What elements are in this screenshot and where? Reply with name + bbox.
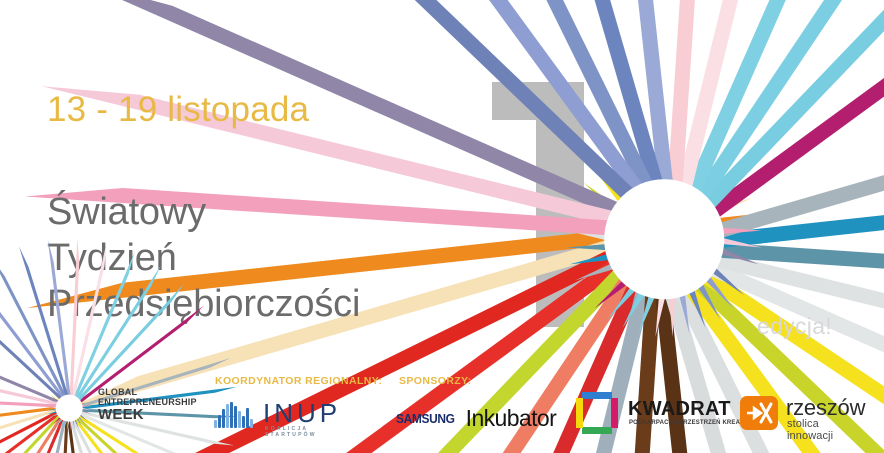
inup-wordmark: INUP — [263, 398, 341, 429]
inup-bar — [214, 420, 217, 428]
inup-bar — [250, 419, 253, 428]
inkubator-wordmark: Inkubator — [466, 405, 557, 432]
ring-inner-hole — [604, 179, 724, 299]
edition-label: edycja! — [757, 313, 832, 340]
inup-bar — [222, 409, 225, 428]
samsung-brandmark: SAMSUNG — [396, 411, 455, 426]
samsung-inkubator-logo[interactable]: SAMSUNGInkubator — [396, 405, 556, 432]
event-date: 13 - 19 listopada — [47, 90, 309, 130]
inup-bar — [226, 404, 229, 428]
inup-bar — [238, 411, 241, 428]
inup-bar — [218, 415, 221, 428]
inup-bar — [246, 408, 249, 428]
global-entrepreneurship-week-logo[interactable]: GLOBAL ENTREPRENEURSHIP WEEK — [46, 382, 192, 434]
gew-logo-wordmark: GLOBAL ENTREPRENEURSHIP WEEK — [98, 388, 197, 424]
kwadrat-edge-right — [611, 398, 618, 428]
rzeszow-tagline: stolica innowacji — [787, 418, 833, 442]
headline-line-1: Światowy — [47, 189, 360, 235]
poster-canvas: edycja! 13 - 19 listopada Światowy Tydzi… — [0, 0, 884, 453]
inup-bar — [234, 406, 237, 428]
kwadrat-wordmark: KWADRAT — [628, 398, 731, 421]
coordinator-label-text: KOORDYNATOR REGIONALNY: — [215, 375, 382, 387]
rzeszow-arrow-icon — [740, 396, 778, 430]
kwadrat-square-icon — [576, 392, 618, 434]
gew-logo-ring-hole — [56, 395, 83, 422]
kwadrat-edge-bottom — [582, 427, 612, 434]
headline-line-2: Tydzień — [47, 235, 360, 281]
gew-color-ring — [566, 141, 762, 337]
inup-bars-icon — [214, 402, 254, 428]
kwadrat-edge-top — [582, 392, 612, 399]
coordinator-label: KOORDYNATOR REGIONALNY: — [215, 375, 382, 387]
kwadrat-edge-left — [576, 398, 583, 428]
sponsors-label: SPONSORZY: — [399, 375, 472, 387]
sponsors-label-text: SPONSORZY: — [399, 375, 472, 387]
inup-bar — [230, 402, 233, 428]
inup-bar — [242, 416, 245, 428]
gew-word-3: WEEK — [98, 407, 197, 423]
gew-logo-ring-icon — [46, 385, 92, 431]
inup-tagline: KOALICJA STARTUPÓW — [265, 426, 317, 438]
